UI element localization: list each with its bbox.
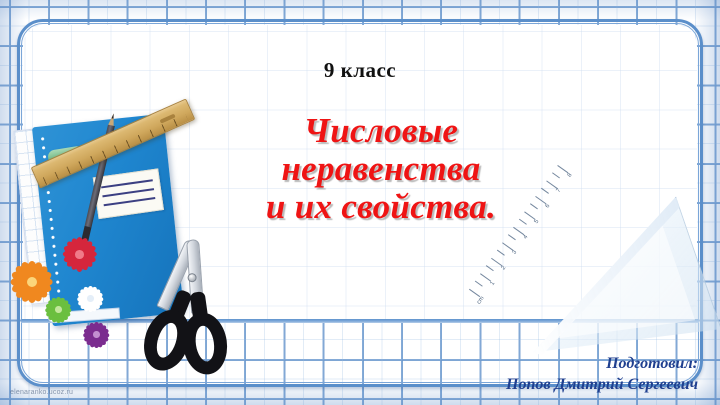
flower-purple <box>84 322 109 347</box>
flower-green <box>46 297 71 322</box>
flower-orange <box>12 262 52 302</box>
ruler-number: 3 <box>512 250 519 256</box>
author-credit: Подготовил:Попов Дмитрий Сергеевич <box>506 353 698 395</box>
ruler-number: 8 <box>567 173 574 179</box>
page-title: Числовыенеравенстваи их свойства. <box>196 112 566 226</box>
flower-center <box>55 306 62 313</box>
ruler-tick <box>508 235 516 241</box>
flower-center <box>75 250 84 259</box>
ruler-number: 1 <box>490 281 497 287</box>
title-line-2: неравенства <box>196 150 566 188</box>
author-line-1: Подготовил: <box>506 353 698 374</box>
ruler-number: 4 <box>523 234 530 240</box>
ruler-tick <box>497 250 505 256</box>
title-line-1: Числовые <box>196 112 566 150</box>
ruler-tick <box>475 281 483 287</box>
title-slide: 12345678cm 9 класс Числовыенеравенстваи … <box>0 0 720 405</box>
ruler-tick <box>486 266 494 272</box>
notebook-label <box>93 168 164 219</box>
flower-center <box>87 295 94 302</box>
flower-red <box>63 238 96 271</box>
label-rule-line <box>104 197 156 206</box>
scissors-icon <box>135 261 241 399</box>
label-rule-line <box>102 188 154 197</box>
flower-center <box>93 331 100 338</box>
label-rule-line <box>101 179 153 188</box>
source-watermark: elenaranko.ucoz.ru <box>10 389 73 396</box>
title-line-3: и их свойства. <box>196 188 566 226</box>
ruler-unit-label: cm <box>477 296 487 306</box>
flower-white <box>78 286 103 311</box>
author-line-2: Попов Дмитрий Сергеевич <box>506 374 698 395</box>
ruler-number: 2 <box>501 265 508 271</box>
grade-label: 9 класс <box>0 58 720 83</box>
